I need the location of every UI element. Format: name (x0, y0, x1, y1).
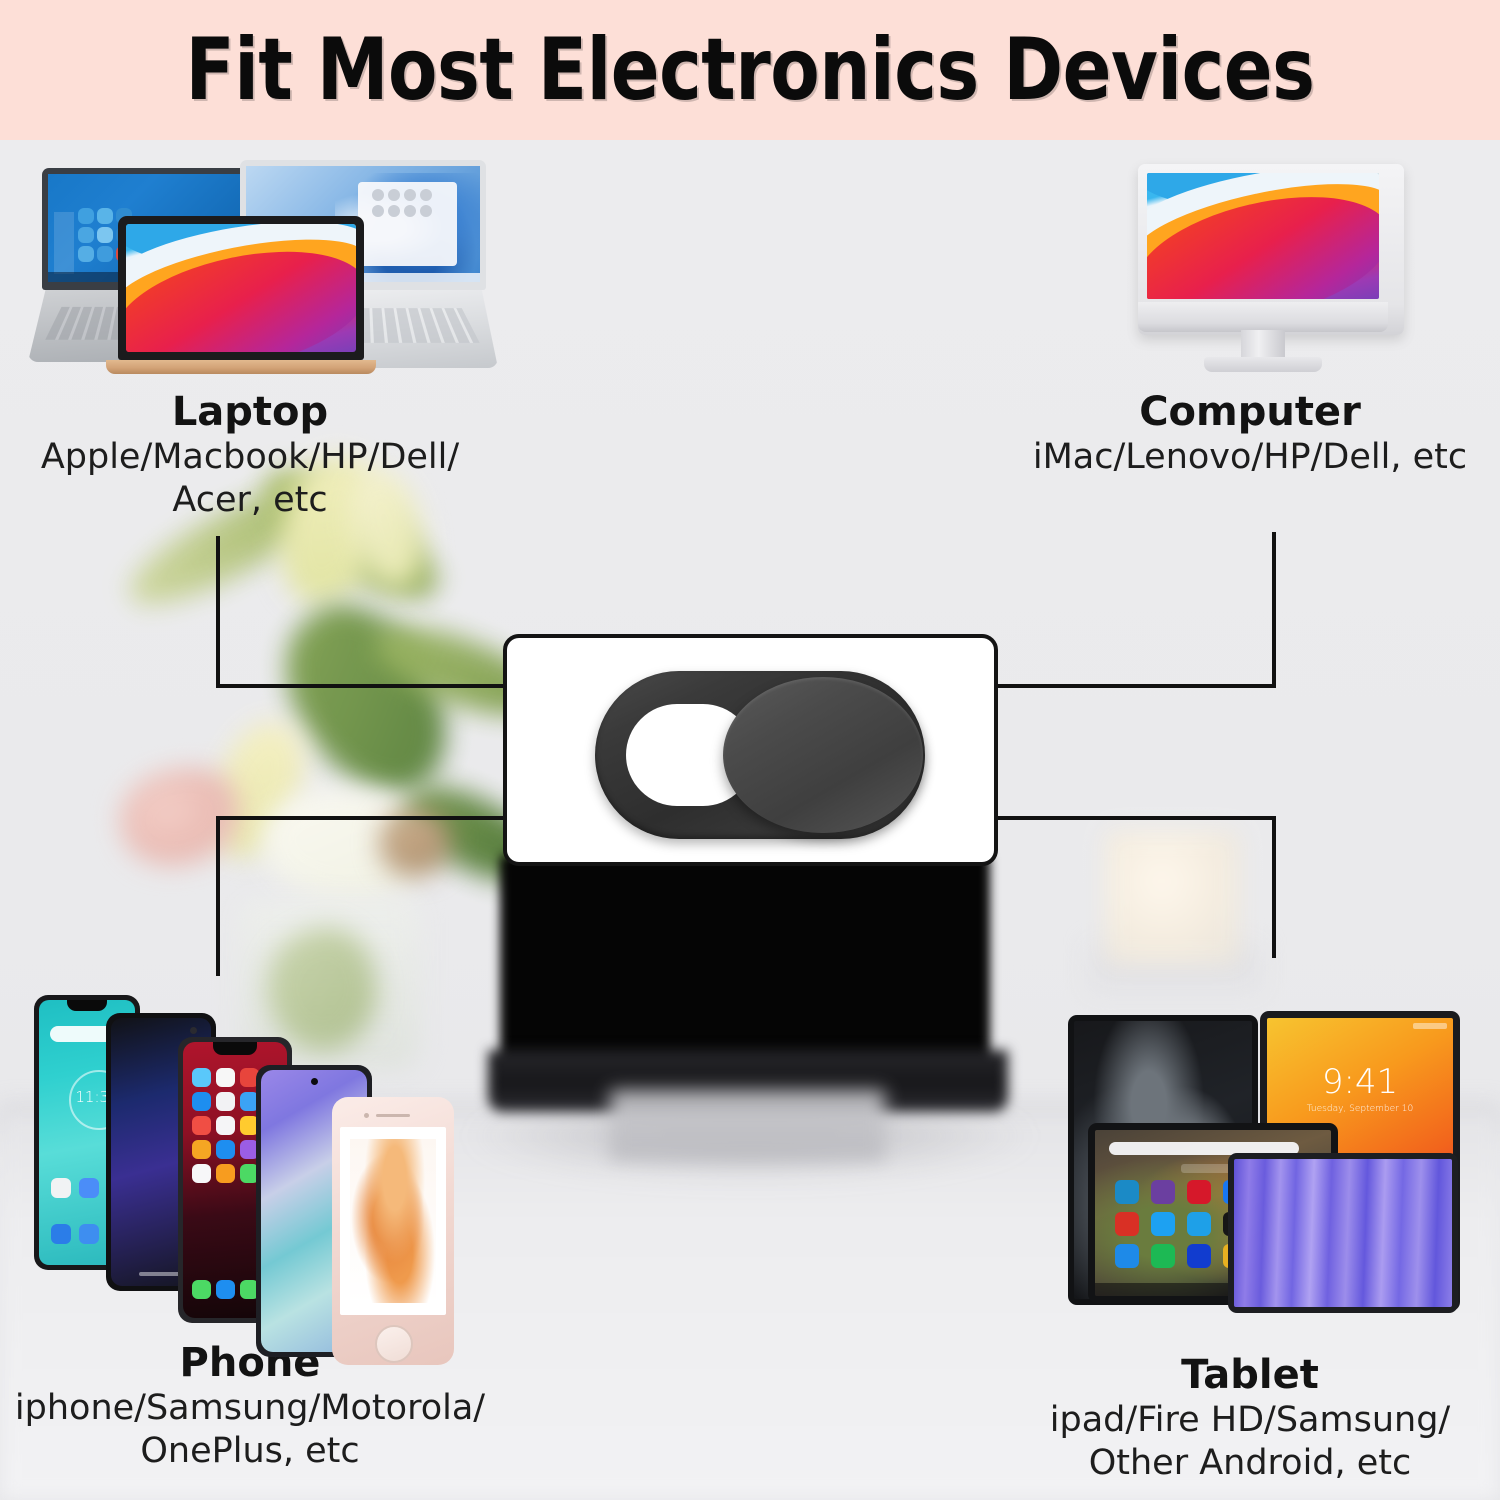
group-tablet: 9:41 Tuesday, September 10 (1010, 1005, 1490, 1484)
computer-title: Computer (1010, 390, 1490, 435)
tablet-device-cluster: 9:41 Tuesday, September 10 (1010, 1005, 1490, 1335)
phone-subtitle-line2: OnePlus, etc (10, 1431, 490, 1472)
connector-phone-horizontal (216, 816, 508, 820)
laptop-subtitle-line2: Acer, etc (10, 480, 490, 521)
laptop-device-cluster (10, 160, 490, 378)
front-camera-icon (364, 1113, 369, 1118)
connector-tablet-vertical (1272, 816, 1276, 958)
punch-hole-camera-icon (311, 1078, 318, 1085)
ipad-status-bar (1413, 1023, 1447, 1029)
group-laptop: Laptop Apple/Macbook/HP/Dell/ Acer, etc (10, 160, 490, 521)
tablet-title: Tablet (1010, 1353, 1490, 1398)
home-button[interactable] (375, 1325, 413, 1363)
ipad-lock-date: Tuesday, September 10 (1267, 1104, 1453, 1114)
laptop-subtitle-line1: Apple/Macbook/HP/Dell/ (10, 437, 490, 478)
page-title: Fit Most Electronics Devices (185, 20, 1314, 120)
home-indicator (139, 1272, 183, 1276)
iphone-6s-rose-gold-phone (332, 1097, 454, 1365)
background-candle (1105, 830, 1240, 965)
macbook-base (106, 360, 376, 374)
infographic-canvas: Fit Most Electronics Devices (0, 0, 1500, 1500)
earpiece-speaker-icon (376, 1114, 410, 1117)
phone-screen (340, 1127, 446, 1315)
background-laptop-stand (610, 1090, 885, 1160)
front-camera-icon (190, 1027, 197, 1034)
background-laptop-screen (500, 855, 990, 1070)
macbook-air-laptop (118, 216, 364, 376)
computer-device-cluster (1010, 160, 1490, 378)
connector-laptop-horizontal (216, 684, 508, 688)
connector-computer-horizontal (994, 684, 1276, 688)
header-banner: Fit Most Electronics Devices (0, 0, 1500, 140)
webcam-cover-slider-knob[interactable] (723, 677, 923, 833)
group-phone: 11:30 (10, 985, 490, 1472)
webcam-cover-body (595, 671, 925, 839)
galaxy-tab-a7-tablet (1228, 1153, 1458, 1313)
imac-stand-foot (1204, 357, 1322, 372)
phone-subtitle-line1: iphone/Samsung/Motorola/ (10, 1388, 490, 1429)
connector-phone-vertical (216, 816, 220, 976)
computer-subtitle-line1: iMac/Lenovo/HP/Dell, etc (1010, 437, 1490, 478)
webcam-cover-product[interactable] (503, 634, 998, 866)
imac-stand-neck (1241, 330, 1285, 360)
laptop-title: Laptop (10, 390, 490, 435)
group-computer: Computer iMac/Lenovo/HP/Dell, etc (1010, 160, 1490, 478)
laptop-screen (126, 224, 356, 352)
tablet-subtitle-line2: Other Android, etc (1010, 1443, 1490, 1484)
tablet-screen (1234, 1159, 1452, 1307)
laptop-label-block: Laptop Apple/Macbook/HP/Dell/ Acer, etc (10, 390, 490, 521)
imac-screen (1147, 173, 1379, 299)
tablet-label-block: Tablet ipad/Fire HD/Samsung/ Other Andro… (1010, 1353, 1490, 1484)
phone-notch (213, 1042, 257, 1055)
connector-laptop-vertical (216, 536, 220, 688)
connector-tablet-horizontal (994, 816, 1276, 820)
phone-notch (67, 1000, 107, 1011)
ipad-lock-time: 9:41 (1267, 1062, 1453, 1102)
computer-label-block: Computer iMac/Lenovo/HP/Dell, etc (1010, 390, 1490, 478)
tablet-subtitle-line1: ipad/Fire HD/Samsung/ (1010, 1400, 1490, 1441)
imac-desktop (1138, 164, 1388, 376)
goldfish-wallpaper (350, 1139, 436, 1303)
imac-chin (1138, 302, 1388, 332)
phone-device-cluster: 11:30 (10, 985, 490, 1335)
connector-computer-vertical (1272, 532, 1276, 688)
windows-11-pinned-apps (372, 189, 432, 217)
